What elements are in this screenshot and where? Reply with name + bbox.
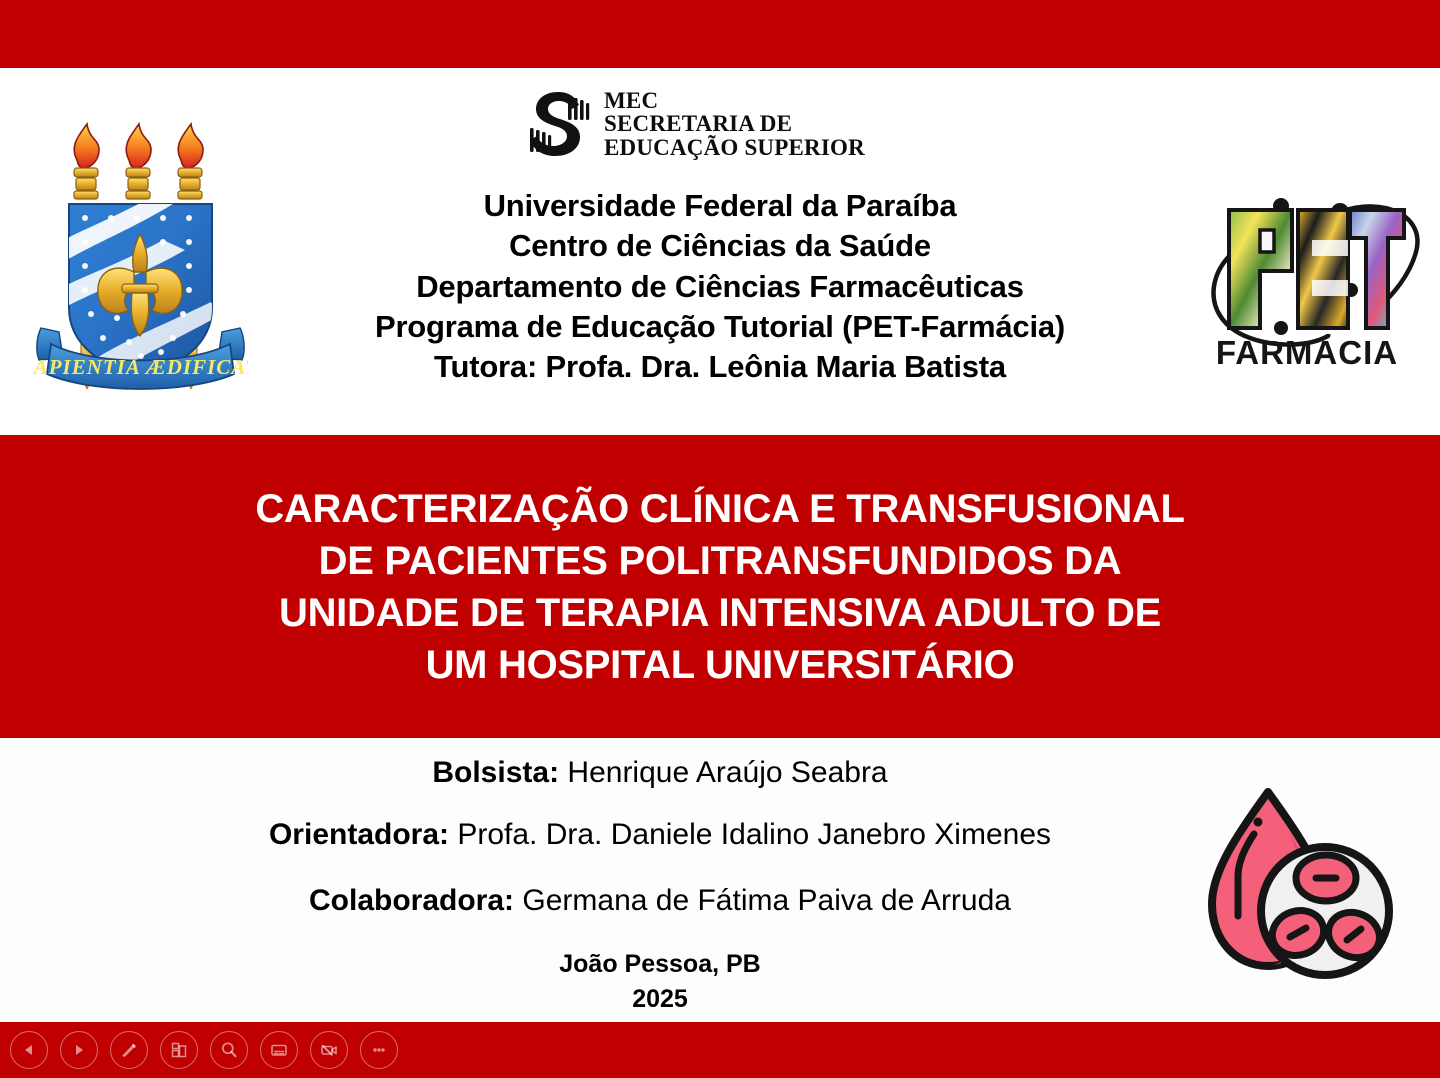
zoom-button[interactable] xyxy=(210,1031,248,1069)
credit-orientadora-role: Orientadora: xyxy=(269,818,449,851)
credit-colaboradora-name: Germana de Fátima Paiva de Arruda xyxy=(522,884,1011,917)
triangle-right-icon xyxy=(71,1042,87,1058)
credit-orientadora-name: Profa. Dra. Daniele Idalino Janebro Xime… xyxy=(457,818,1051,851)
institution-line-3: Departamento de Ciências Farmacêuticas xyxy=(200,267,1240,307)
institution-line-5: Tutora: Profa. Dra. Leônia Maria Batista xyxy=(200,347,1240,387)
title-band: CARACTERIZAÇÃO CLÍNICA E TRANSFUSIONAL D… xyxy=(0,435,1440,738)
credit-colaboradora-role: Colaboradora: xyxy=(309,884,514,917)
pet-farmacia-logo-icon: FARMÁCIA xyxy=(1188,168,1426,373)
more-options-button[interactable] xyxy=(360,1031,398,1069)
top-accent-bar xyxy=(0,0,1440,68)
title-line-3: UNIDADE DE TERAPIA INTENSIVA ADULTO DE xyxy=(105,587,1335,639)
credit-bolsista-name: Henrique Araújo Seabra xyxy=(567,756,887,789)
annotate-button[interactable] xyxy=(110,1031,148,1069)
title-line-2: DE PACIENTES POLITRANSFUNDIDOS DA xyxy=(105,535,1335,587)
video-off-icon xyxy=(319,1040,339,1060)
previous-slide-button[interactable] xyxy=(10,1031,48,1069)
subtitles-button[interactable] xyxy=(260,1031,298,1069)
presentation-toolbar[interactable] xyxy=(0,1022,1440,1078)
location-year: 2025 xyxy=(120,985,1200,1014)
pet-subtitle: FARMÁCIA xyxy=(1216,334,1398,371)
caption-icon xyxy=(269,1040,289,1060)
credit-colaboradora: Colaboradora: Germana de Fátima Paiva de… xyxy=(120,884,1200,918)
panels-icon xyxy=(169,1040,189,1060)
triangle-left-icon xyxy=(21,1042,37,1058)
slide-title: CARACTERIZAÇÃO CLÍNICA E TRANSFUSIONAL D… xyxy=(105,483,1335,691)
mec-logo-icon: MEC SECRETARIA DE EDUCAÇÃO SUPERIOR xyxy=(528,84,928,164)
next-slide-button[interactable] xyxy=(60,1031,98,1069)
credit-orientadora: Orientadora: Profa. Dra. Daniele Idalino… xyxy=(120,818,1200,852)
blood-drop-cells-icon xyxy=(1192,780,1397,992)
presentation-slide: SAPIENTIA ÆDIFICAT MEC SECRETARIA DE EDU… xyxy=(0,0,1440,1078)
title-line-4: UM HOSPITAL UNIVERSITÁRIO xyxy=(105,639,1335,691)
mec-line-1: MEC xyxy=(604,89,865,112)
institution-line-2: Centro de Ciências da Saúde xyxy=(200,226,1240,266)
institution-heading: Universidade Federal da Paraíba Centro d… xyxy=(200,186,1240,387)
pen-icon xyxy=(119,1040,139,1060)
institution-line-1: Universidade Federal da Paraíba xyxy=(200,186,1240,226)
camera-off-button[interactable] xyxy=(310,1031,348,1069)
credit-bolsista-role: Bolsista: xyxy=(432,756,559,789)
ellipsis-icon xyxy=(369,1040,389,1060)
magnifier-icon xyxy=(219,1040,239,1060)
title-line-1: CARACTERIZAÇÃO CLÍNICA E TRANSFUSIONAL xyxy=(105,483,1335,535)
layout-button[interactable] xyxy=(160,1031,198,1069)
location-city: João Pessoa, PB xyxy=(120,950,1200,979)
mec-line-3: EDUCAÇÃO SUPERIOR xyxy=(604,136,865,159)
credit-bolsista: Bolsista: Henrique Araújo Seabra xyxy=(120,756,1200,790)
institution-line-4: Programa de Educação Tutorial (PET-Farmá… xyxy=(200,307,1240,347)
mec-line-2: SECRETARIA DE xyxy=(604,112,865,135)
